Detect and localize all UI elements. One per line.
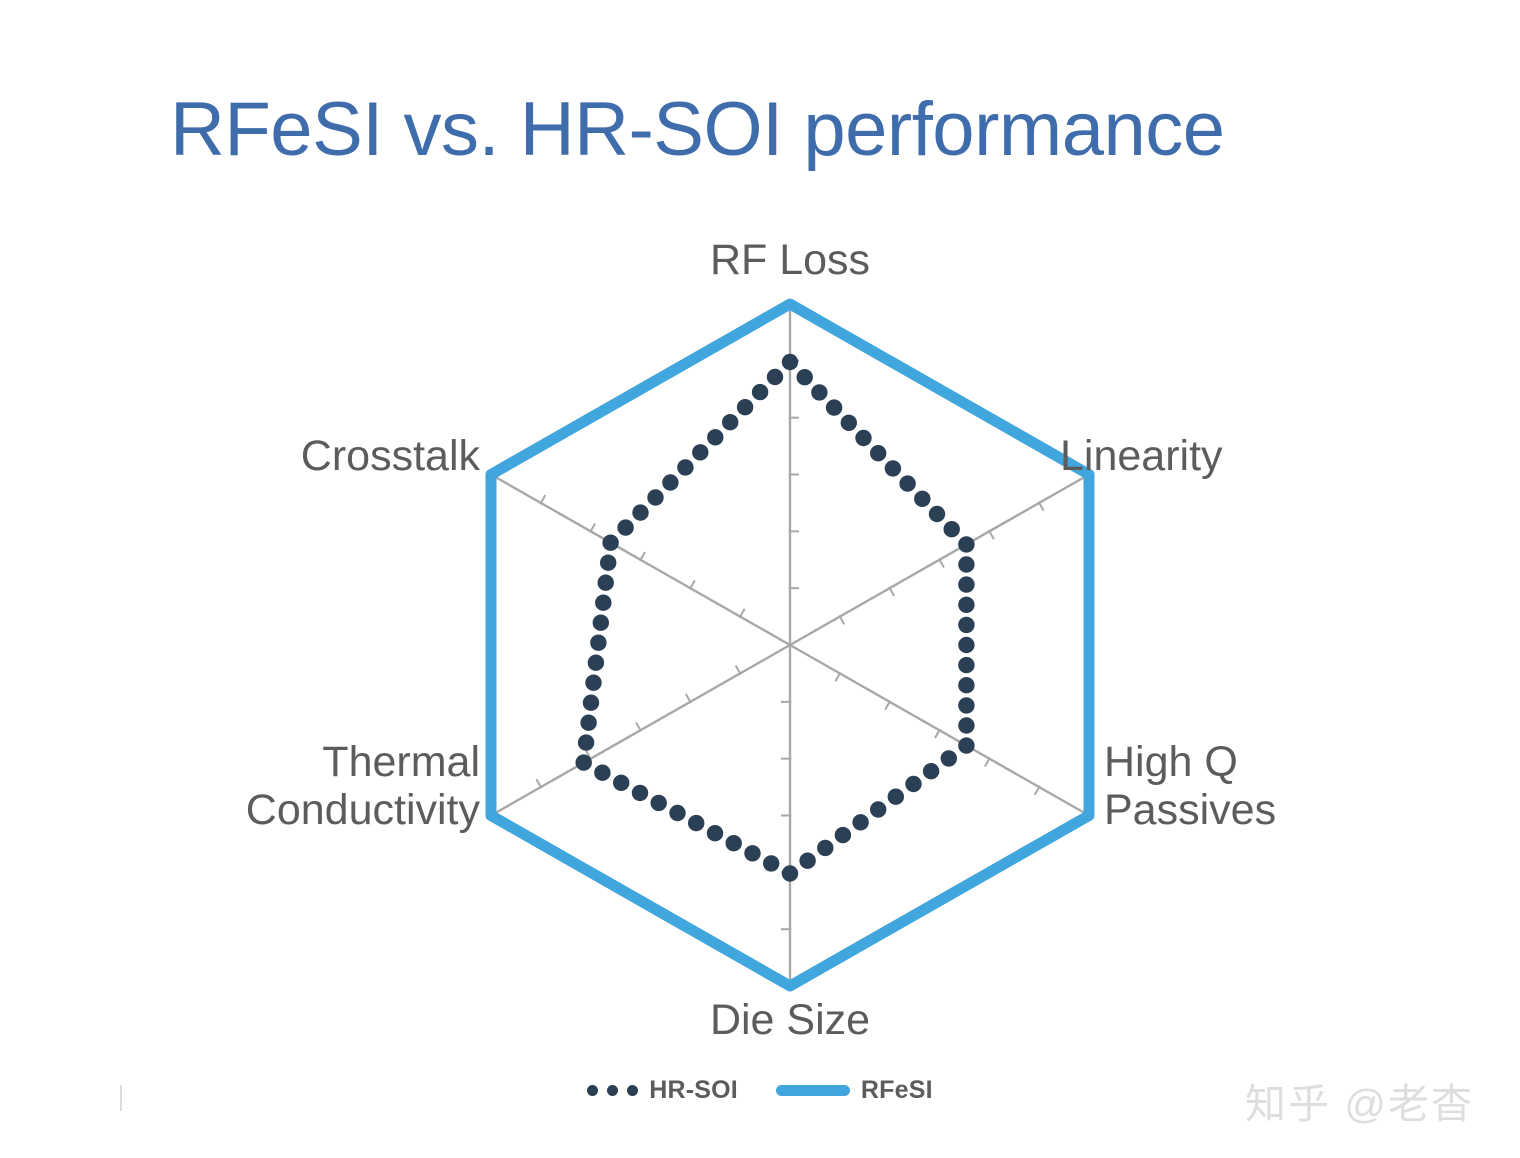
axis-label-thermal-conductivity: Thermal Conductivity [80,738,480,834]
axis-label-high-q-passives: High Q Passives [1104,738,1484,834]
watermark: 知乎 @老杳 [1245,1070,1474,1130]
series-hrsoi-polygon [576,354,975,882]
slide-edge-mark [120,1085,122,1111]
radar-chart: RF Loss Linearity High Q Passives Die Si… [0,0,1520,1158]
axis-label-linearity: Linearity [1060,432,1440,480]
radar-chart-canvas [0,0,1520,1158]
radar-grid [491,304,1089,986]
axis-label-die-size: Die Size [600,996,980,1044]
axis-label-rf-loss: RF Loss [600,236,980,284]
axis-label-crosstalk: Crosstalk [100,432,480,480]
